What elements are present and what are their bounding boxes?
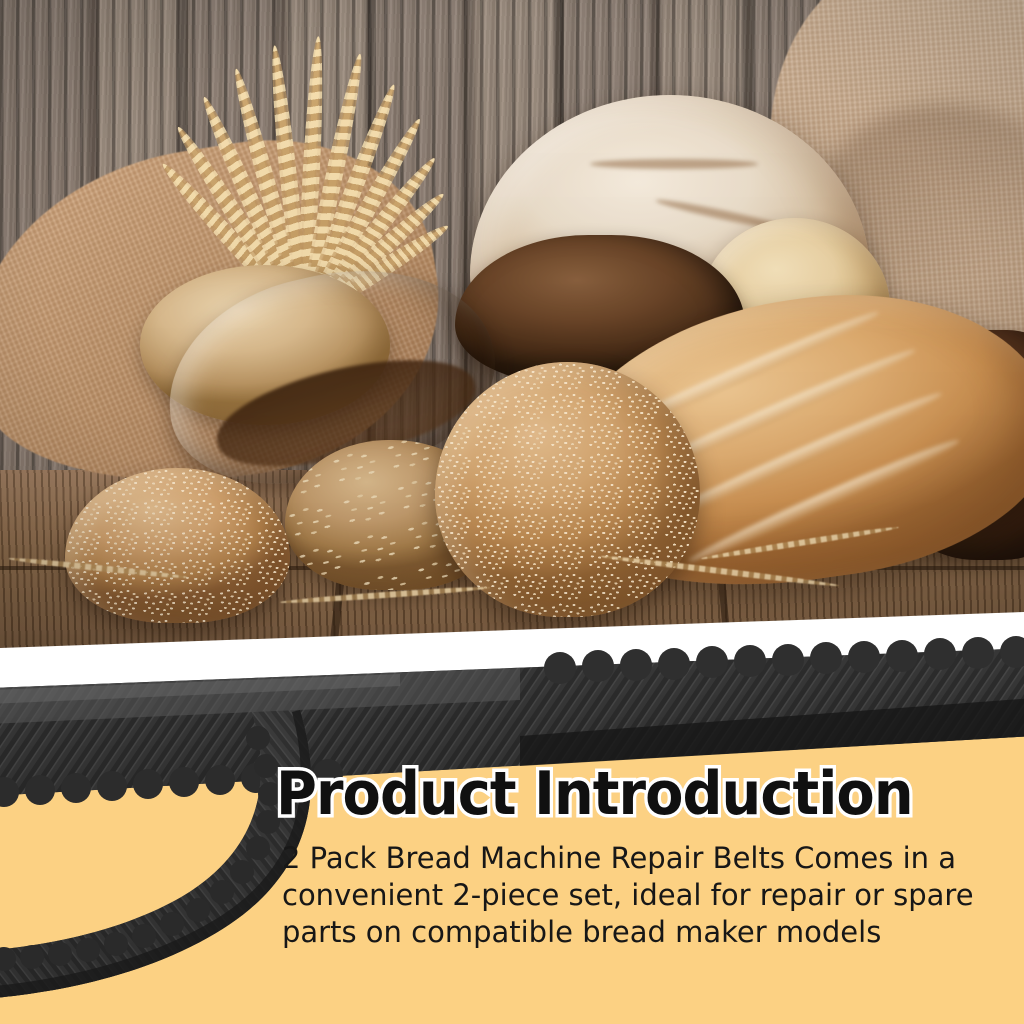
product-introduction-banner: Product Introduction 2 Pack Bread Machin… — [0, 0, 1024, 1024]
banner-text-block: Product Introduction 2 Pack Bread Machin… — [276, 762, 1016, 951]
page-title-text: Product Introduction — [276, 759, 913, 829]
page-title: Product Introduction — [276, 762, 964, 826]
product-description: 2 Pack Bread Machine Repair Belts Comes … — [282, 840, 982, 951]
